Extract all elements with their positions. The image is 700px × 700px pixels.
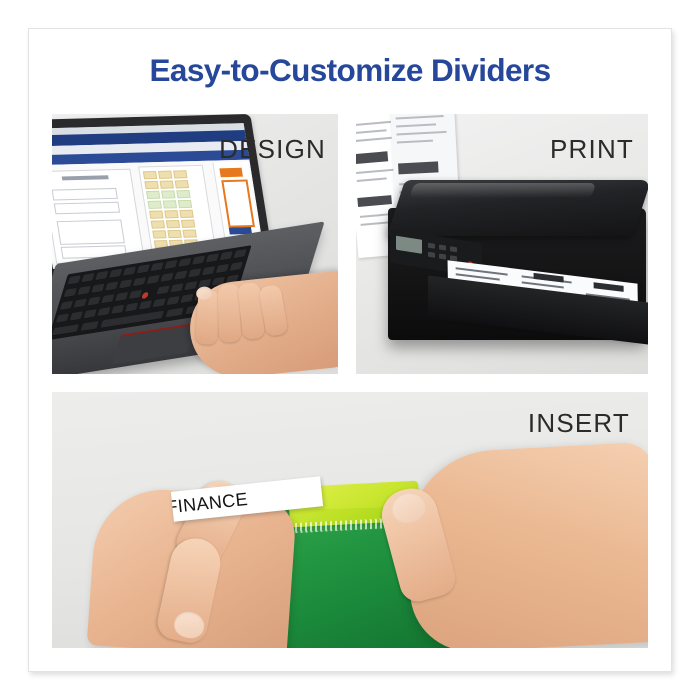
screen-form-field: [57, 220, 125, 245]
panel-label-design: DESIGN: [219, 134, 326, 165]
laptop-trackpad: [112, 323, 196, 365]
label-strip-text: FINANCE: [171, 488, 249, 517]
panel-label-insert: INSERT: [528, 408, 630, 439]
poster-root: Easy-to-Customize Dividers: [0, 0, 700, 700]
screen-form-heading: [62, 175, 109, 180]
panel-insert: FINANCE INSERT: [52, 392, 648, 648]
screen-form-card: [52, 169, 145, 264]
printer-scanner-lid: [387, 180, 648, 236]
hand-right-holding-divider: [403, 442, 648, 648]
screen-preview-frame: [221, 180, 255, 228]
panel-design: DESIGN: [52, 114, 338, 374]
printer-display: [396, 236, 422, 254]
trackpoint-nub: [141, 292, 149, 299]
screen-form-field: [54, 202, 120, 215]
page-title: Easy-to-Customize Dividers: [0, 52, 700, 89]
screen-form-field: [52, 188, 118, 201]
panel-print: PRINT: [356, 114, 648, 374]
panel-label-print: PRINT: [550, 134, 634, 165]
screen-preview-header: [219, 168, 243, 177]
